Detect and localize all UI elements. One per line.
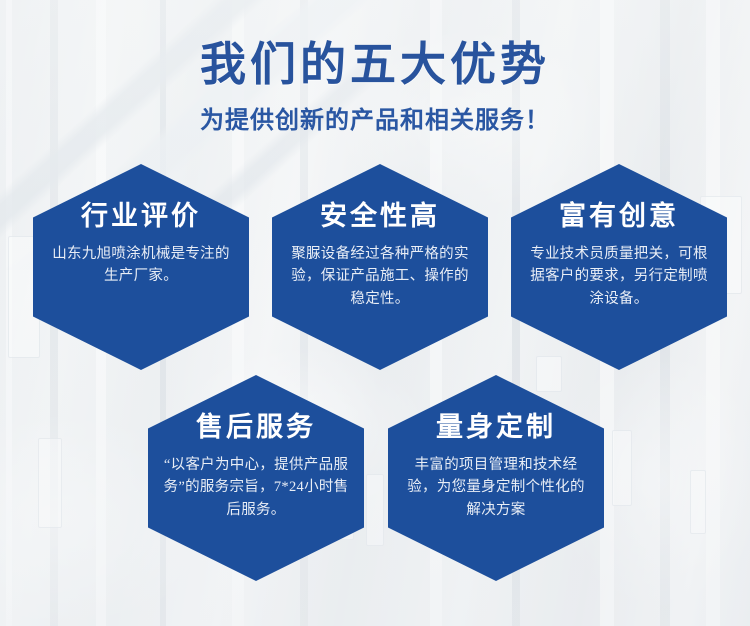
advantage-title: 行业评价	[81, 202, 201, 232]
page-title: 我们的五大优势	[0, 38, 750, 92]
advantage-title: 安全性高	[320, 202, 440, 232]
advantage-card-rich-creativity[interactable]: 富有创意 专业技术员质量把关，可根据客户的要求，另行定制喷涂设备。	[511, 164, 727, 370]
advantage-body: 聚脲设备经过各种严格的实验，保证产品施工、操作的稳定性。	[288, 243, 473, 310]
advantage-title: 富有创意	[559, 202, 679, 232]
advantage-card-high-safety[interactable]: 安全性高 聚脲设备经过各种严格的实验，保证产品施工、操作的稳定性。	[272, 164, 488, 370]
advantage-body: “以客户为中心，提供产品服务”的服务宗旨，7*24小时售后服务。	[164, 454, 349, 521]
advantage-card-after-sales-service[interactable]: 售后服务 “以客户为中心，提供产品服务”的服务宗旨，7*24小时售后服务。	[148, 375, 364, 581]
advantage-title: 量身定制	[436, 413, 556, 443]
advantage-body: 专业技术员质量把关，可根据客户的要求，另行定制喷涂设备。	[527, 243, 712, 310]
advantage-card-tailored-customization[interactable]: 量身定制 丰富的项目管理和技术经验，为您量身定制个性化的解决方案	[388, 375, 604, 581]
advantage-card-industry-evaluation[interactable]: 行业评价 山东九旭喷涂机械是专注的生产厂家。	[33, 164, 249, 370]
promo-banner: 我们的五大优势 为提供创新的产品和相关服务！ 行业评价 山东九旭喷涂机械是专注的…	[0, 0, 750, 626]
advantage-title: 售后服务	[196, 413, 316, 443]
advantage-body: 山东九旭喷涂机械是专注的生产厂家。	[49, 243, 234, 288]
banner-heading: 我们的五大优势 为提供创新的产品和相关服务！	[0, 38, 750, 135]
advantage-body: 丰富的项目管理和技术经验，为您量身定制个性化的解决方案	[404, 454, 589, 521]
page-subtitle: 为提供创新的产品和相关服务！	[0, 100, 750, 135]
